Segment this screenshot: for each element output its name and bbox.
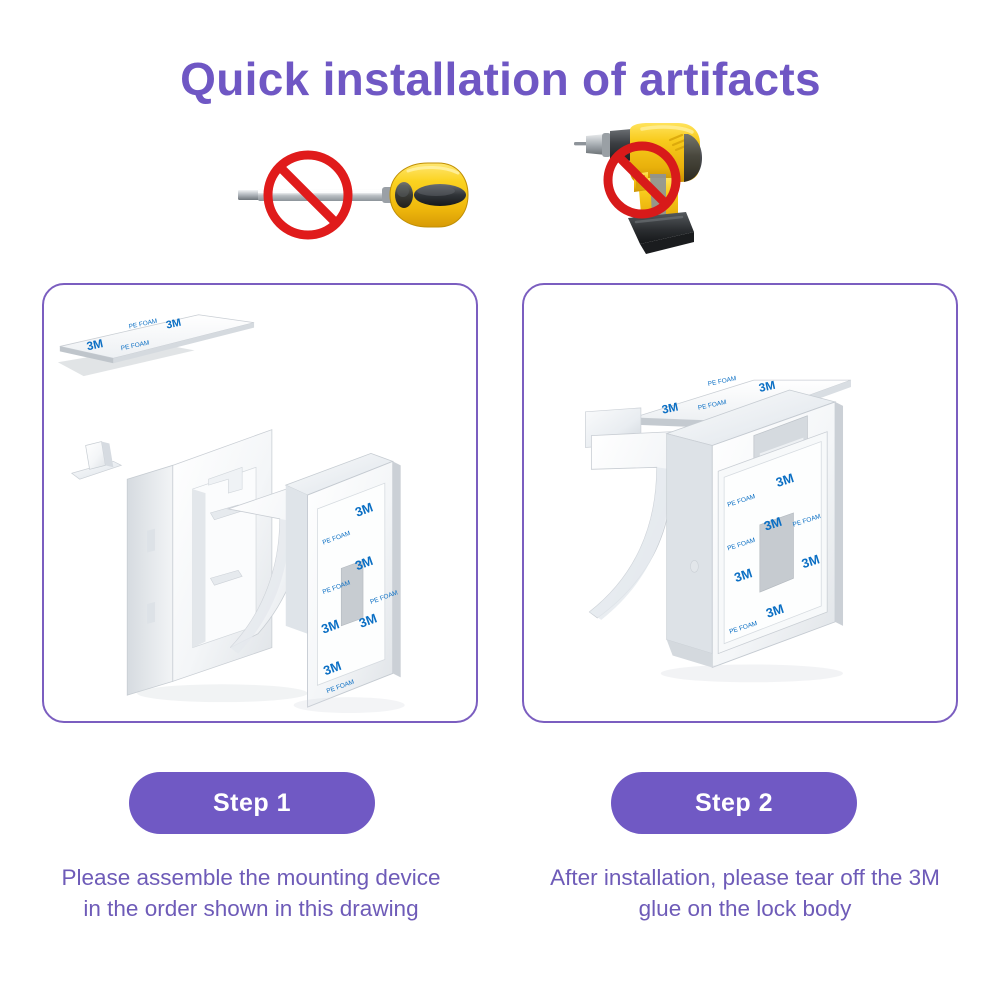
step-2-image-panel: 3M 3M PE FOAM PE FOAM	[522, 283, 958, 723]
step-2-caption-line-2: glue on the lock body	[510, 893, 980, 924]
step-1-button[interactable]: Step 1	[129, 772, 375, 834]
prohibited-tools-row	[0, 118, 1001, 268]
page-title: Quick installation of artifacts	[0, 52, 1001, 106]
step-2-caption: After installation, please tear off the …	[510, 862, 980, 924]
adhesive-tape-strip: 3M 3M PE FOAM PE FOAM	[58, 315, 254, 376]
step-1-illustration: 3M 3M PE FOAM PE FOAM	[44, 285, 476, 721]
step-1-caption-line-1: Please assemble the mounting device	[16, 862, 486, 893]
assembled-lock-body: 3M PE FOAM 3M PE FOAM PE FOAM 3M 3M 3M P…	[585, 390, 843, 667]
step-2-caption-line-1: After installation, please tear off the …	[510, 862, 980, 893]
power-drill-icon	[566, 118, 716, 268]
step-2-illustration: 3M 3M PE FOAM PE FOAM	[524, 285, 956, 721]
step-1-caption: Please assemble the mounting device in t…	[16, 862, 486, 924]
svg-text:PE FOAM: PE FOAM	[707, 375, 737, 388]
step-captions-row: Please assemble the mounting device in t…	[0, 862, 1001, 942]
step-1-image-panel: 3M 3M PE FOAM PE FOAM	[42, 283, 478, 723]
lock-base-frame	[72, 430, 272, 696]
step-buttons-row: Step 1 Step 2	[0, 772, 1001, 836]
step-2-button[interactable]: Step 2	[611, 772, 857, 834]
steps-illustration-panels: 3M 3M PE FOAM PE FOAM	[0, 283, 1001, 725]
screwdriver-icon	[232, 140, 472, 250]
step-1-caption-line-2: in the order shown in this drawing	[16, 893, 486, 924]
